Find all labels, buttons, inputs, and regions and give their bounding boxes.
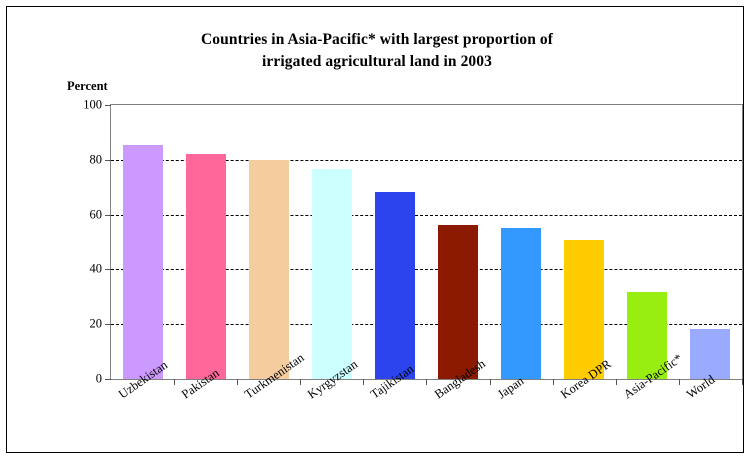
- bar[interactable]: [375, 192, 415, 379]
- x-tick: [490, 379, 491, 385]
- bar[interactable]: [186, 154, 226, 379]
- x-tick: [553, 379, 554, 385]
- bar-slot: [237, 105, 300, 379]
- y-tick-0: [105, 379, 111, 380]
- y-tick-label-0: 0: [96, 372, 102, 387]
- bar-slot: [427, 105, 490, 379]
- bar[interactable]: [438, 225, 478, 379]
- bar[interactable]: [690, 329, 730, 379]
- bar-slot: [616, 105, 679, 379]
- bar[interactable]: [123, 145, 163, 379]
- x-tick: [174, 379, 175, 385]
- x-tick: [237, 379, 238, 385]
- x-axis-labels: UzbekistanPakistanTurkmenistanKyrgyzstan…: [110, 7, 741, 87]
- y-tick-label-40: 40: [90, 262, 103, 277]
- bar[interactable]: [312, 169, 352, 379]
- bar-slot: [174, 105, 237, 379]
- plot-area: 100806040200: [110, 104, 743, 380]
- bar-slot: [553, 105, 616, 379]
- x-tick: [426, 379, 427, 385]
- x-tick: [363, 379, 364, 385]
- y-tick-label-100: 100: [83, 98, 102, 113]
- chart-frame: Countries in Asia-Pacific* with largest …: [6, 6, 744, 453]
- y-tick-label-60: 60: [90, 207, 103, 222]
- bar-series: [111, 105, 742, 379]
- bar-slot: [363, 105, 426, 379]
- y-axis-label: Percent: [67, 79, 108, 94]
- x-tick: [300, 379, 301, 385]
- x-tick: [679, 379, 680, 385]
- bar[interactable]: [501, 228, 541, 379]
- bar-slot: [679, 105, 742, 379]
- bar[interactable]: [249, 160, 289, 379]
- y-tick-label-80: 80: [90, 152, 103, 167]
- x-tick: [616, 379, 617, 385]
- bar-slot: [490, 105, 553, 379]
- y-tick-label-20: 20: [90, 317, 103, 332]
- bar-slot: [300, 105, 363, 379]
- bar-slot: [111, 105, 174, 379]
- bar[interactable]: [564, 240, 604, 379]
- x-tick: [742, 379, 743, 385]
